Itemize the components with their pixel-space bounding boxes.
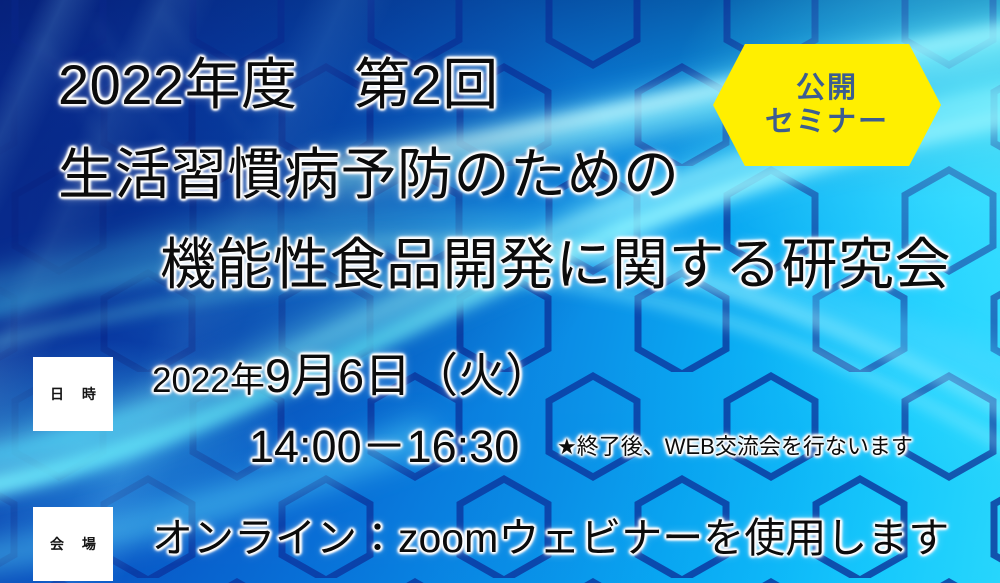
badge-line-2: セミナー bbox=[765, 106, 889, 138]
badge-line-1: 公開 bbox=[796, 72, 858, 104]
title-line-3: 機能性食品開発に関する研究会 bbox=[160, 237, 951, 293]
event-date-main: 9月6日（火） bbox=[265, 352, 552, 399]
datetime-label-box: 日 時 bbox=[33, 357, 113, 431]
datetime-label-text: 日 時 bbox=[43, 384, 103, 404]
title-line-1: 2022年度 第2回 bbox=[58, 57, 499, 113]
seminar-poster: 2022年度 第2回 生活習慣病予防のための 機能性食品開発に関する研究会 公開… bbox=[0, 0, 1000, 583]
title-line-2: 生活習慣病予防のための bbox=[58, 147, 680, 203]
venue-label-box: 会 場 bbox=[33, 507, 113, 581]
venue-label-text: 会 場 bbox=[43, 534, 103, 554]
event-date-year: 2022年 bbox=[152, 363, 265, 398]
public-seminar-badge: 公開 セミナー bbox=[713, 44, 941, 166]
event-time: 14:00－16:30 bbox=[249, 424, 519, 469]
event-venue: オンライン：zoomウェビナーを使用します bbox=[152, 518, 949, 559]
event-date-row: 2022年 9月6日（火） bbox=[152, 352, 552, 399]
event-note: ★終了後、WEB交流会を行ないます bbox=[557, 436, 913, 458]
